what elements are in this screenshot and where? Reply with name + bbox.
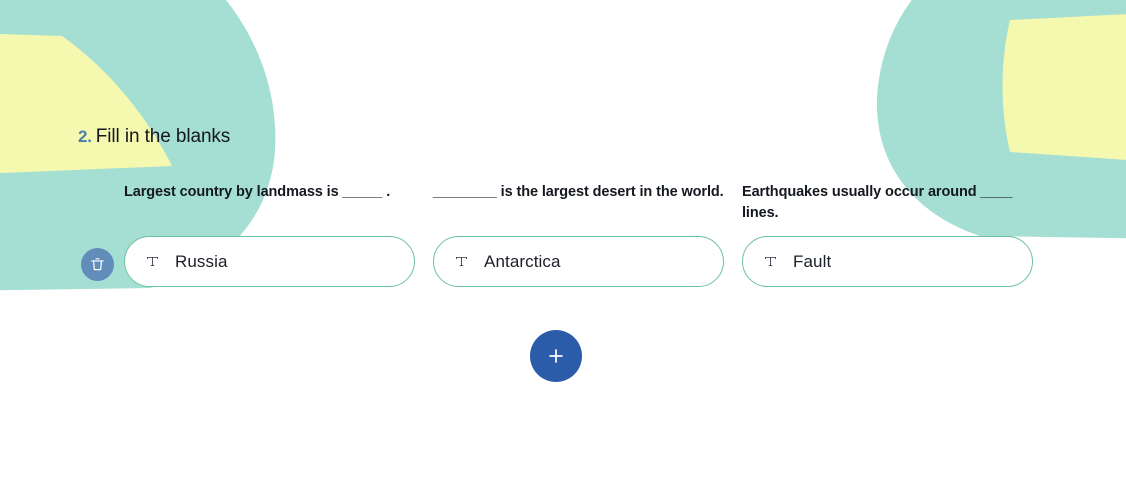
delete-question-button[interactable] [81, 248, 114, 281]
blank-prompt: Earthquakes usually occur around ____ li… [742, 182, 1033, 224]
page-canvas: 2. Fill in the blanks Largest country by… [0, 0, 1126, 486]
blank-item: Largest country by landmass is _____ . R… [124, 182, 415, 287]
yellow-wedge-right [1003, 8, 1126, 168]
answer-input-2[interactable]: Antarctica [433, 236, 724, 287]
answer-value: Fault [793, 252, 831, 272]
text-format-icon [761, 253, 779, 271]
blank-prompt: ________ is the largest desert in the wo… [433, 182, 724, 224]
answer-input-1[interactable]: Russia [124, 236, 415, 287]
blank-item: Earthquakes usually occur around ____ li… [742, 182, 1033, 287]
blank-prompt: Largest country by landmass is _____ . [124, 182, 415, 224]
trash-icon [89, 256, 106, 273]
add-blank-button[interactable] [530, 330, 582, 382]
answer-value: Antarctica [484, 252, 561, 272]
question-number: 2. [78, 127, 92, 147]
text-format-icon [452, 253, 470, 271]
yellow-wedge-left [0, 30, 172, 178]
blank-item: ________ is the largest desert in the wo… [433, 182, 724, 287]
answer-input-3[interactable]: Fault [742, 236, 1033, 287]
text-format-icon [143, 253, 161, 271]
question-title: Fill in the blanks [96, 126, 230, 148]
answer-value: Russia [175, 252, 228, 272]
blanks-row: Largest country by landmass is _____ . R… [124, 182, 1033, 287]
question-header: 2. Fill in the blanks [78, 126, 230, 148]
plus-icon [545, 345, 567, 367]
